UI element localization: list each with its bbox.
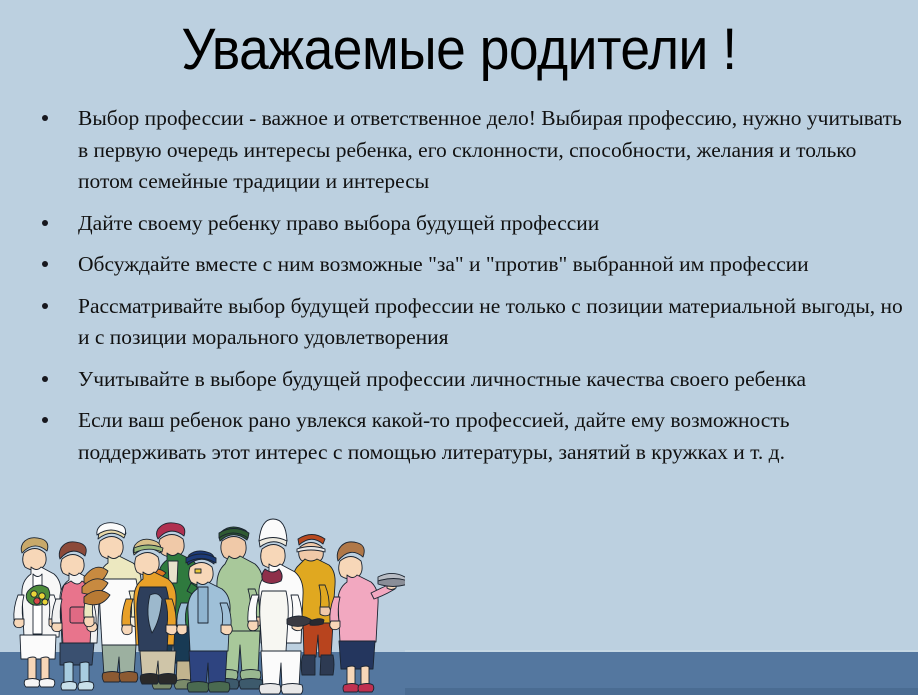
page-title: Уважаемые родители ! [37, 18, 882, 82]
list-item: Дайте своему ребенку право выбора будуще… [30, 208, 905, 240]
list-item-text: Дайте своему ребенку право выбора будуще… [78, 208, 905, 240]
group-of-professionals-illustration [0, 495, 405, 695]
bullet-dot-icon [42, 376, 48, 382]
bullet-dot-icon [42, 417, 48, 423]
list-item: Обсуждайте вместе с ним возможные "за" и… [30, 249, 905, 281]
bullet-dot-icon [42, 261, 48, 267]
bullet-dot-icon [42, 115, 48, 121]
slide: Уважаемые родители ! Выбор профессии - в… [0, 0, 918, 695]
list-item-text: Выбор профессии - важное и ответственное… [78, 103, 905, 198]
list-item-text: Рассматривайте выбор будущей профессии н… [78, 291, 905, 354]
list-item: Выбор профессии - важное и ответственное… [30, 103, 905, 198]
list-item: Если ваш ребенок рано увлекся какой-то п… [30, 405, 905, 468]
list-item: Учитывайте в выборе будущей профессии ли… [30, 364, 905, 396]
bullet-dot-icon [42, 303, 48, 309]
list-item: Рассматривайте выбор будущей профессии н… [30, 291, 905, 354]
bullet-dot-icon [42, 220, 48, 226]
list-item-text: Если ваш ребенок рано увлекся какой-то п… [78, 405, 905, 468]
list-item-text: Обсуждайте вместе с ним возможные "за" и… [78, 249, 905, 281]
bullet-list: Выбор профессии - важное и ответственное… [30, 103, 905, 468]
list-item-text: Учитывайте в выборе будущей профессии ли… [78, 364, 905, 396]
